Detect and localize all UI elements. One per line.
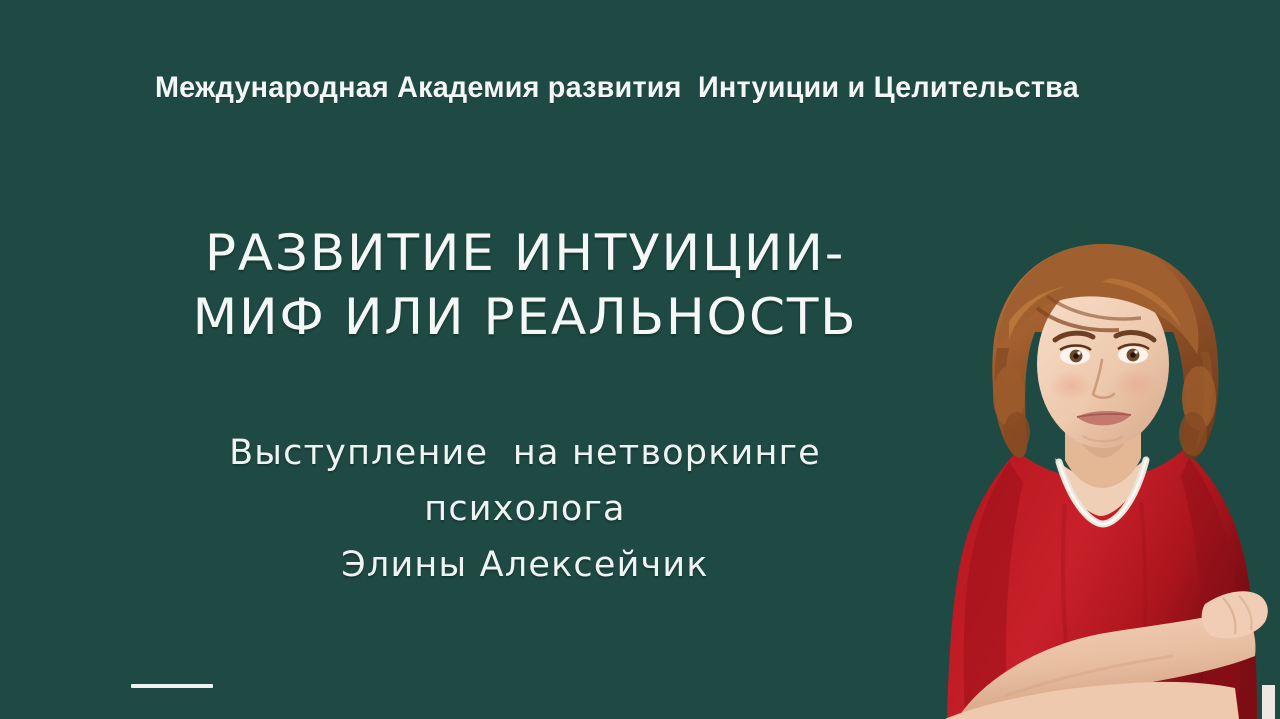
subtitle-block: Выступление на нетворкинге психолога Эли…: [60, 425, 990, 593]
title-line-1: РАЗВИТИЕ ИНТУИЦИИ-: [14, 220, 1037, 288]
photo-edge-artifact: [1262, 685, 1275, 719]
portrait-arms: [945, 591, 1268, 719]
portrait-necklace: [1059, 460, 1146, 524]
portrait-neck: [1065, 404, 1141, 488]
title-line-2: МИФ ИЛИ РЕАЛЬНОСТЬ: [14, 284, 1037, 352]
portrait-dress: [947, 450, 1257, 719]
subtitle-line-3: Элины Алексейчик: [60, 537, 990, 593]
accent-dash: [131, 684, 213, 688]
portrait-face: [1037, 280, 1169, 448]
academy-header: Международная Академия развития Интуиции…: [155, 71, 981, 105]
page-title: РАЗВИТИЕ ИНТУИЦИИ- МИФ ИЛИ РЕАЛЬНОСТЬ: [60, 222, 990, 350]
subtitle-line-2: психолога: [60, 481, 990, 537]
subtitle-line-1: Выступление на нетворкинге: [60, 425, 990, 481]
presentation-slide: Международная Академия развития Интуиции…: [0, 0, 1280, 719]
